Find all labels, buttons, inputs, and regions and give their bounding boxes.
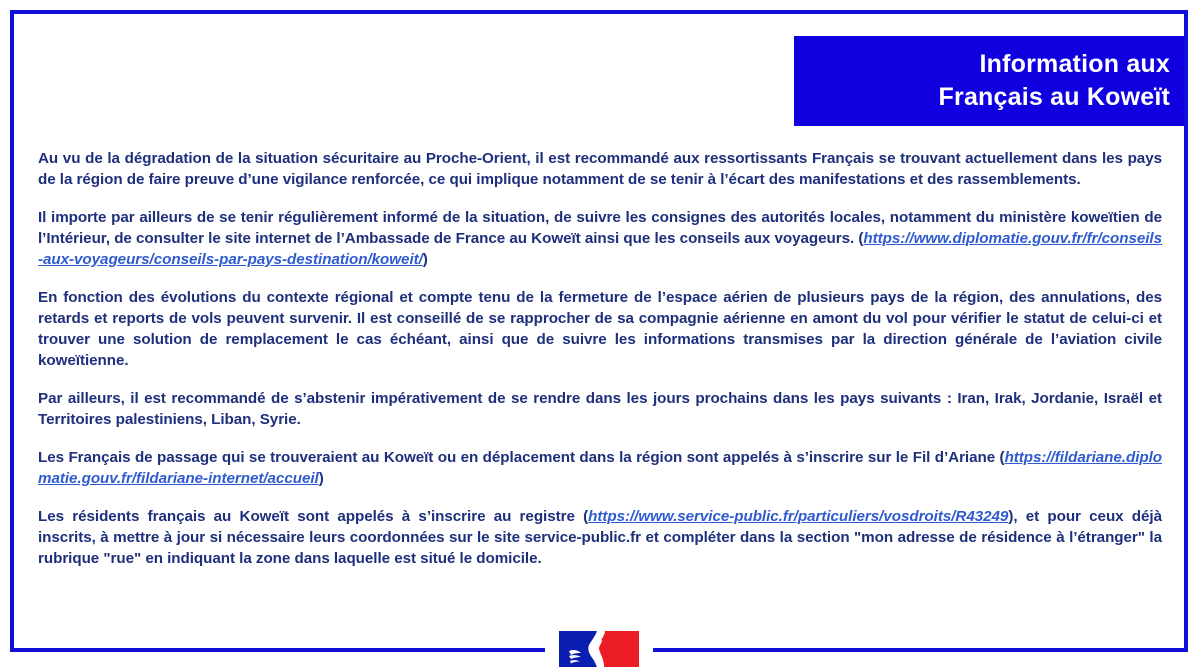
body-content: Au vu de la dégradation de la situation … — [38, 149, 1162, 570]
paragraph-residents-register: Les résidents français au Koweït sont ap… — [38, 507, 1162, 570]
paragraph-text-after-link: ) — [319, 470, 324, 487]
paragraph-text: En fonction des évolutions du contexte r… — [38, 289, 1162, 369]
paragraph-stay-informed: Il importe par ailleurs de se tenir régu… — [38, 208, 1162, 271]
paragraph-text: Au vu de la dégradation de la situation … — [38, 150, 1162, 188]
title-line-2: Français au Koweït — [939, 81, 1170, 114]
footer-logo-container — [14, 628, 1184, 670]
marianne-french-republic-logo — [545, 628, 653, 670]
paragraph-avoid-countries: Par ailleurs, il est recommandé de s’abs… — [38, 389, 1162, 431]
paragraph-fil-dariane: Les Français de passage qui se trouverai… — [38, 448, 1162, 490]
link-service-public-registre[interactable]: https://www.service-public.fr/particulie… — [588, 508, 1008, 525]
document-frame: Information aux Français au Koweït Au vu… — [10, 10, 1188, 652]
paragraph-text-after-link: ) — [423, 251, 428, 268]
paragraph-security-degradation: Au vu de la dégradation de la situation … — [38, 149, 1162, 191]
paragraph-air-space-flights: En fonction des évolutions du contexte r… — [38, 288, 1162, 372]
title-banner: Information aux Français au Koweït — [794, 36, 1184, 126]
paragraph-text-before-link: Les Français de passage qui se trouverai… — [38, 449, 1005, 466]
paragraph-text-before-link: Les résidents français au Koweït sont ap… — [38, 508, 588, 525]
title-line-1: Information aux — [979, 48, 1170, 81]
paragraph-text: Par ailleurs, il est recommandé de s’abs… — [38, 390, 1162, 428]
